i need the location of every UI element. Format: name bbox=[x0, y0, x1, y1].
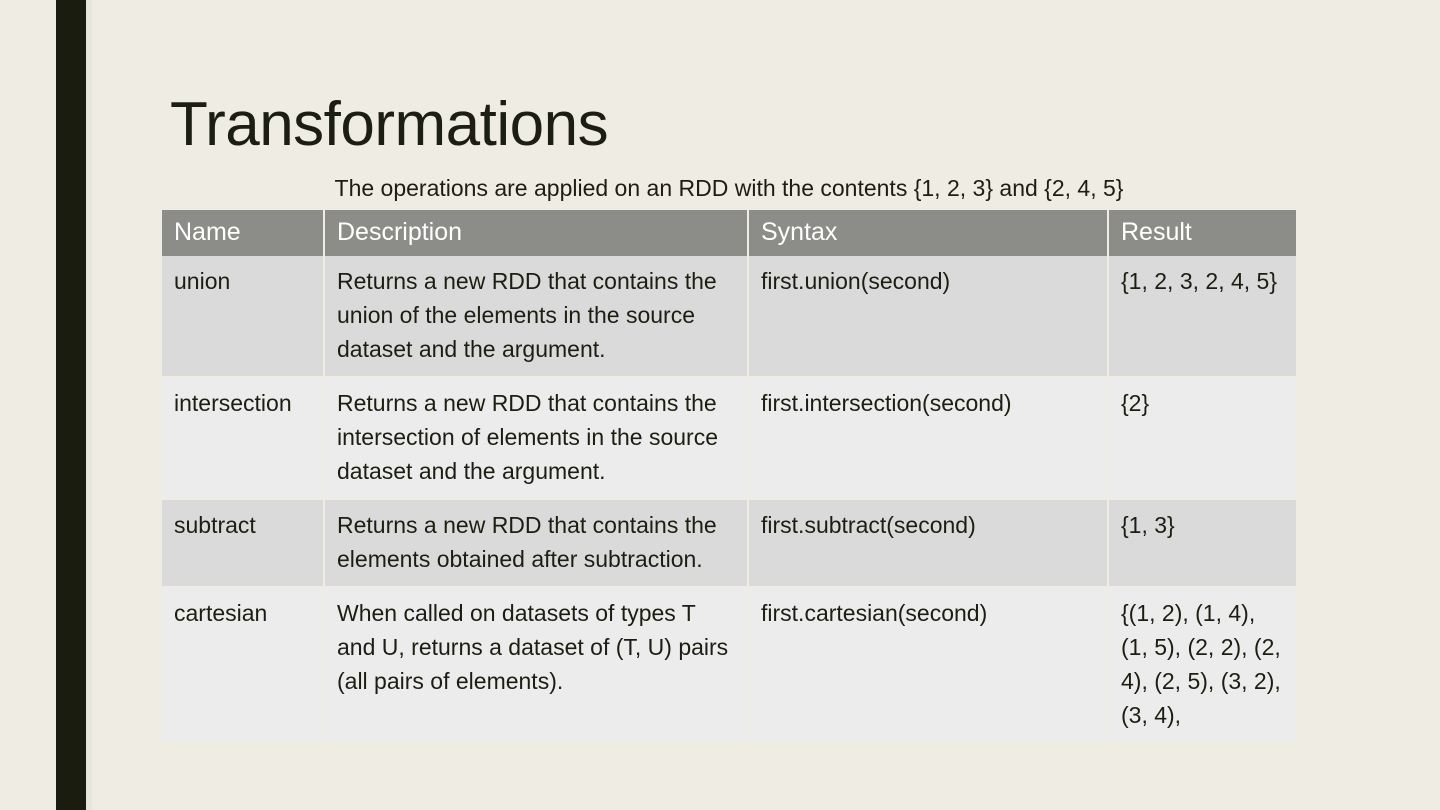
transformations-table-container: Name Description Syntax Result union Ret… bbox=[162, 210, 1296, 744]
cell-result: {2} bbox=[1108, 377, 1296, 499]
cell-result: {1, 3} bbox=[1108, 499, 1296, 587]
column-header-name: Name bbox=[162, 210, 324, 256]
table-row: union Returns a new RDD that contains th… bbox=[162, 256, 1296, 377]
cell-description: Returns a new RDD that contains the inte… bbox=[324, 377, 748, 499]
column-header-description: Description bbox=[324, 210, 748, 256]
table-body: union Returns a new RDD that contains th… bbox=[162, 256, 1296, 743]
cell-name: subtract bbox=[162, 499, 324, 587]
table-row: intersection Returns a new RDD that cont… bbox=[162, 377, 1296, 499]
cell-description: Returns a new RDD that contains the unio… bbox=[324, 256, 748, 377]
table-row: cartesian When called on datasets of typ… bbox=[162, 587, 1296, 743]
cell-result: {(1, 2), (1, 4), (1, 5), (2, 2), (2, 4),… bbox=[1108, 587, 1296, 743]
cell-description: When called on datasets of types T and U… bbox=[324, 587, 748, 743]
table-header: Name Description Syntax Result bbox=[162, 210, 1296, 256]
table-header-row: Name Description Syntax Result bbox=[162, 210, 1296, 256]
decorative-left-stripe-dark bbox=[56, 0, 86, 810]
column-header-result: Result bbox=[1108, 210, 1296, 256]
slide: Transformations The operations are appli… bbox=[0, 0, 1440, 810]
cell-name: union bbox=[162, 256, 324, 377]
cell-result: {1, 2, 3, 2, 4, 5} bbox=[1108, 256, 1296, 377]
cell-syntax: first.subtract(second) bbox=[748, 499, 1108, 587]
column-header-syntax: Syntax bbox=[748, 210, 1108, 256]
cell-name: cartesian bbox=[162, 587, 324, 743]
cell-syntax: first.cartesian(second) bbox=[748, 587, 1108, 743]
table-row: subtract Returns a new RDD that contains… bbox=[162, 499, 1296, 587]
cell-syntax: first.intersection(second) bbox=[748, 377, 1108, 499]
cell-name: intersection bbox=[162, 377, 324, 499]
decorative-left-stripe-light bbox=[86, 0, 92, 810]
transformations-table: Name Description Syntax Result union Ret… bbox=[162, 210, 1296, 744]
cell-description: Returns a new RDD that contains the elem… bbox=[324, 499, 748, 587]
cell-syntax: first.union(second) bbox=[748, 256, 1108, 377]
page-title: Transformations bbox=[170, 88, 608, 162]
slide-subtitle: The operations are applied on an RDD wit… bbox=[162, 174, 1296, 202]
